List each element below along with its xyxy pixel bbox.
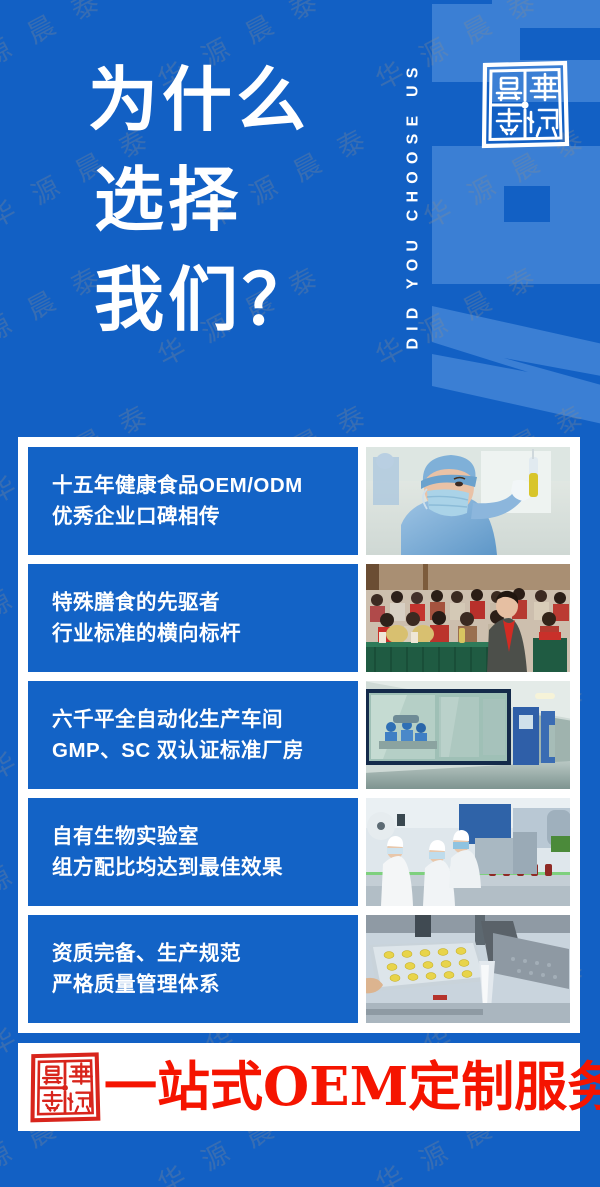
feature-card-3: 六千平全自动化生产车间 GMP、SC 双认证标准厂房: [28, 681, 358, 789]
feature-4-line-1: 自有生物实验室: [52, 821, 358, 852]
feature-5-line-2: 严格质量管理体系: [52, 969, 358, 1000]
production-line-staff-photo: [366, 798, 570, 906]
bottom-banner: 一站式OEM定制服务: [18, 1043, 580, 1131]
feature-1-line-2: 优秀企业口碑相传: [52, 501, 358, 532]
poster-root: 为什么 选择 我们？ DID YOU CHOOSE US: [0, 0, 600, 1187]
lab-technician-photo: [366, 447, 570, 555]
feature-1-line-1: 十五年健康食品OEM/ODM: [52, 470, 358, 501]
list-item[interactable]: 十五年健康食品OEM/ODM 优秀企业口碑相传: [28, 447, 570, 555]
feature-card-5: 资质完备、生产规范 严格质量管理体系: [28, 915, 358, 1023]
banner-text: 一站式OEM定制服务: [104, 1057, 600, 1117]
feature-5-line-1: 资质完备、生产规范: [52, 938, 358, 969]
blister-packaging-photo: [366, 915, 570, 1023]
list-item[interactable]: 资质完备、生产规范 严格质量管理体系: [28, 915, 570, 1023]
cleanroom-corridor-photo: [366, 681, 570, 789]
feature-card-2: 特殊膳食的先驱者 行业标准的横向标杆: [28, 564, 358, 672]
page-title: 为什么 选择 我们？: [88, 50, 398, 350]
feature-2-line-1: 特殊膳食的先驱者: [52, 587, 358, 618]
feature-card-1: 十五年健康食品OEM/ODM 优秀企业口碑相传: [28, 447, 358, 555]
features-list: 十五年健康食品OEM/ODM 优秀企业口碑相传: [28, 447, 570, 1023]
title-line-2: 选择: [94, 150, 398, 250]
brand-seal-logo-red: [26, 1048, 104, 1126]
feature-3-line-1: 六千平全自动化生产车间: [52, 704, 358, 735]
vertical-subtitle: DID YOU CHOOSE US: [396, 0, 432, 410]
conference-audience-photo: [366, 564, 570, 672]
features-frame: 十五年健康食品OEM/ODM 优秀企业口碑相传: [18, 437, 580, 1033]
feature-3-line-2: GMP、SC 双认证标准厂房: [52, 735, 358, 766]
brand-seal-logo-white: [477, 56, 573, 152]
feature-4-line-2: 组方配比均达到最佳效果: [52, 852, 358, 883]
list-item[interactable]: 自有生物实验室 组方配比均达到最佳效果: [28, 798, 570, 906]
vertical-subtitle-text: DID YOU CHOOSE US: [405, 60, 423, 349]
list-item[interactable]: 特殊膳食的先驱者 行业标准的横向标杆: [28, 564, 570, 672]
list-item[interactable]: 六千平全自动化生产车间 GMP、SC 双认证标准厂房: [28, 681, 570, 789]
feature-card-4: 自有生物实验室 组方配比均达到最佳效果: [28, 798, 358, 906]
title-line-3: 我们？: [94, 250, 398, 350]
title-line-1: 为什么: [88, 50, 398, 150]
feature-2-line-2: 行业标准的横向标杆: [52, 618, 358, 649]
